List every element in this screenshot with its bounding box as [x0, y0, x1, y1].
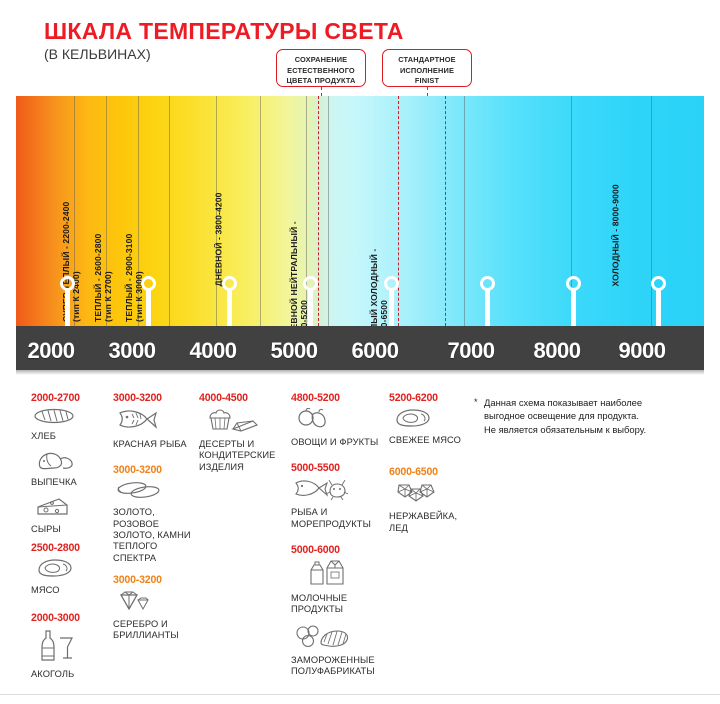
- legend-range: 4000-4500: [199, 392, 287, 404]
- legend-column-3: 4000-4500 ДЕСЕРТЫ И КОНДИТЕРСКИЕ ИЗДЕЛИЯ: [199, 392, 287, 480]
- legend-item: КРАСНАЯ РЫБА: [113, 407, 197, 450]
- callout-natural-color: СОХРАНЕНИЕ ЕСТЕСТВЕННОГО ЦВЕТА ПРОДУКТА: [276, 49, 366, 87]
- legend-group: 5000-6000 МОЛОЧНЫЕ ПРОДУКТЫ ЗАМОРОЖЕННЫЕ…: [291, 544, 383, 677]
- fish-icon: [115, 407, 197, 438]
- marker-ring-icon: [480, 276, 495, 291]
- scale-divider: [328, 96, 329, 326]
- scale-tick-5000: 5000: [254, 338, 334, 364]
- legend-range: 4800-5200: [291, 392, 383, 404]
- scale-label-cold: ХОЛОДНЫЙ - 8000-9000: [611, 184, 621, 286]
- callout-line-3: FINIST: [415, 76, 439, 85]
- marker-ring-icon: [566, 276, 581, 291]
- legend-item: ДЕСЕРТЫ И КОНДИТЕРСКИЕ ИЗДЕЛИЯ: [199, 407, 287, 473]
- marker-stem: [485, 290, 490, 327]
- seafood-icon: [293, 477, 383, 506]
- note-star: *: [474, 396, 478, 409]
- fresh-meat-icon: [391, 407, 467, 434]
- dashed-guide-grey: [445, 96, 446, 326]
- scale-label-warm-2700: ТЕПЛЫЙ - 2600-2800 (тип К 2700): [93, 234, 114, 322]
- legend-item: ЗОЛОТО, РОЗОВОЕ ЗОЛОТО, КАМНИ ТЕПЛОГО СП…: [113, 479, 197, 564]
- gold-rings-icon: [115, 479, 197, 506]
- note-line-2: выгодное освещение для продукта.: [484, 409, 714, 422]
- marker-stem: [308, 290, 313, 327]
- scale-tick-8000: 8000: [517, 338, 597, 364]
- pastry-icon: [33, 449, 111, 476]
- band-shadow: [16, 370, 704, 375]
- legend-item: МОЛОЧНЫЕ ПРОДУКТЫ: [291, 559, 383, 616]
- callout-standard-finist: СТАНДАРТНОЕ ИСПОЛНЕНИЕ FINIST: [382, 49, 472, 87]
- marker-ring-icon: [651, 276, 666, 291]
- temperature-scale: СУПЕР ТЕПЛЫЙ - 2200-2400 (тип К 2400) ТЕ…: [16, 96, 704, 326]
- legend-group: 4800-5200 ОВОЩИ И ФРУКТЫ: [291, 392, 383, 448]
- legend-item: СЕРЕБРО И БРИЛЛИАНТЫ: [113, 589, 197, 642]
- marker-stem: [146, 290, 151, 327]
- callout-line-1: СТАНДАРТНОЕ: [398, 55, 456, 64]
- legend-group: 4000-4500 ДЕСЕРТЫ И КОНДИТЕРСКИЕ ИЗДЕЛИЯ: [199, 392, 287, 473]
- legend-item: МЯСО: [31, 557, 111, 596]
- legend-item-name: СЕРЕБРО И БРИЛЛИАНТЫ: [113, 619, 197, 642]
- page-subtitle: (В КЕЛЬВИНАХ): [44, 46, 151, 62]
- scale-tick-4000: 4000: [173, 338, 253, 364]
- callout-line-2: ИСПОЛНЕНИЕ: [400, 66, 454, 75]
- marker-stem: [65, 290, 70, 327]
- note-line-3: Не является обязательным к выбору.: [484, 423, 714, 436]
- legend-column-4: 4800-5200 ОВОЩИ И ФРУКТЫ 5000-5500 РЫБА …: [291, 392, 383, 684]
- legend-item: СВЕЖЕЕ МЯСО: [389, 407, 467, 446]
- legend-group: 2500-2800 МЯСО: [31, 542, 111, 596]
- legend-column-2: 3000-3200 КРАСНАЯ РЫБА 3000-3200 ЗОЛОТО,…: [113, 392, 197, 649]
- legend-range: 3000-3200: [113, 574, 197, 586]
- marker-stem: [571, 290, 576, 327]
- marker-ring-icon: [384, 276, 399, 291]
- scale-label-line1: ХОЛОДНЫЙ - 8000-9000: [611, 184, 621, 286]
- marker-ring-icon: [222, 276, 237, 291]
- legend-item-name: ЗОЛОТО, РОЗОВОЕ ЗОЛОТО, КАМНИ ТЕПЛОГО СП…: [113, 507, 197, 564]
- scale-label-line1: ДНЕВНОЙ НЕЙТРАЛЬНЫЙ -: [289, 221, 299, 342]
- legend-item-name: ДЕСЕРТЫ И КОНДИТЕРСКИЕ ИЗДЕЛИЯ: [199, 439, 287, 473]
- legend-item: ЗАМОРОЖЕННЫЕ ПОЛУФАБРИКАТЫ: [291, 623, 383, 678]
- legend-range: 5200-6200: [389, 392, 467, 404]
- scale-label-daylight: ДНЕВНОЙ - 3800-4200: [214, 193, 224, 287]
- legend-group: 3000-3200 ЗОЛОТО, РОЗОВОЕ ЗОЛОТО, КАМНИ …: [113, 464, 197, 564]
- scale-divider: [169, 96, 170, 326]
- vegetables-fruits-icon: [293, 407, 383, 436]
- scale-label-line1: ТЕПЛЫЙ - 2900-3100: [124, 234, 134, 322]
- bread-icon: [33, 407, 111, 430]
- legend-group: 3000-3200 КРАСНАЯ РЫБА: [113, 392, 197, 450]
- legend-group: 6000-6500 НЕРЖАВЕЙКА, ЛЕД: [389, 466, 467, 534]
- alcohol-icon: [33, 629, 111, 668]
- diamond-icon: [115, 589, 197, 618]
- cheese-icon: [33, 496, 111, 523]
- legend-item: ХЛЕБ: [31, 407, 111, 442]
- marker-stem: [227, 290, 232, 327]
- legend-item: СЫРЫ: [31, 496, 111, 535]
- color-gradient-bar: [16, 96, 704, 326]
- legend-group: 2000-3000 АКОГОЛЬ: [31, 612, 111, 680]
- footer-divider: [0, 694, 720, 695]
- legend-item-name: ВЫПЕЧКА: [31, 477, 111, 488]
- legend-item-name: СЫРЫ: [31, 524, 111, 535]
- legend-range: 6000-6500: [389, 466, 467, 478]
- marker-ring-icon: [60, 276, 75, 291]
- legend-group: 3000-3200 СЕРЕБРО И БРИЛЛИАНТЫ: [113, 574, 197, 642]
- legend-range: 5000-6000: [291, 544, 383, 556]
- dessert-icon: [201, 407, 287, 438]
- callout-line-2: ЕСТЕСТВЕННОГО: [287, 66, 355, 75]
- legend-item-name: КРАСНАЯ РЫБА: [113, 439, 197, 450]
- scale-tick-3000: 3000: [92, 338, 172, 364]
- marker-ring-icon: [303, 276, 318, 291]
- note-line-1: Данная схема показывает наиболее: [484, 396, 714, 409]
- legend-item-name: ХЛЕБ: [31, 431, 111, 442]
- legend-range: 5000-5500: [291, 462, 383, 474]
- meat-icon: [33, 557, 111, 584]
- marker-stem: [389, 290, 394, 327]
- legend-range: 3000-3200: [113, 392, 197, 404]
- legend-item: ВЫПЕЧКА: [31, 449, 111, 488]
- callout-line-1: СОХРАНЕНИЕ: [295, 55, 348, 64]
- legend-section: 2000-2700 ХЛЕБ ВЫПЕЧКА СЫРЫ 25: [0, 392, 720, 704]
- scale-label-line1: ДНЕВНОЙ - 3800-4200: [214, 193, 224, 287]
- dairy-icon: [303, 559, 383, 592]
- dashed-guide-natural-color: [318, 96, 319, 326]
- legend-range: 2500-2800: [31, 542, 111, 554]
- legend-item-name: ЗАМОРОЖЕННЫЕ ПОЛУФАБРИКАТЫ: [291, 655, 383, 678]
- legend-group: 5200-6200 СВЕЖЕЕ МЯСО: [389, 392, 467, 446]
- scale-tick-6000: 6000: [335, 338, 415, 364]
- legend-item-name: РЫБА И МОРЕПРОДУКТЫ: [291, 507, 383, 530]
- legend-range: 3000-3200: [113, 464, 197, 476]
- dashed-guide-finist: [398, 96, 399, 326]
- page-title: ШКАЛА ТЕМПЕРАТУРЫ СВЕТА: [44, 18, 404, 45]
- header: ШКАЛА ТЕМПЕРАТУРЫ СВЕТА (В КЕЛЬВИНАХ) СО…: [0, 0, 720, 96]
- legend-item-name: МОЛОЧНЫЕ ПРОДУКТЫ: [291, 593, 383, 616]
- marker-ring-icon: [141, 276, 156, 291]
- legend-range: 2000-2700: [31, 392, 111, 404]
- legend-item: РЫБА И МОРЕПРОДУКТЫ: [291, 477, 383, 530]
- legend-item-name: ОВОЩИ И ФРУКТЫ: [291, 437, 383, 448]
- callout-stem-2: [427, 87, 428, 96]
- scale-tick-9000: 9000: [602, 338, 682, 364]
- scale-divider: [464, 96, 465, 326]
- legend-item: ОВОЩИ И ФРУКТЫ: [291, 407, 383, 448]
- callout-line-3: ЦВЕТА ПРОДУКТА: [286, 76, 355, 85]
- scale-label-line1: ТЕПЛЫЙ - 2600-2800: [93, 234, 103, 322]
- legend-item: НЕРЖАВЕЙКА, ЛЕД: [389, 481, 467, 534]
- legend-range: 2000-3000: [31, 612, 111, 624]
- scale-divider: [260, 96, 261, 326]
- marker-stem: [656, 290, 661, 327]
- callout-stem-1: [321, 87, 322, 96]
- legend-item-name: АКОГОЛЬ: [31, 669, 111, 680]
- scale-label-line2: (тип К 2700): [104, 234, 114, 322]
- frozen-food-icon: [293, 623, 383, 654]
- legend-column-5: 5200-6200 СВЕЖЕЕ МЯСО 6000-6500 НЕРЖАВЕЙ…: [389, 392, 467, 541]
- legend-item-name: СВЕЖЕЕ МЯСО: [389, 435, 467, 446]
- scale-tick-7000: 7000: [431, 338, 511, 364]
- scale-tick-2000: 2000: [11, 338, 91, 364]
- legend-item: АКОГОЛЬ: [31, 629, 111, 680]
- legend-group: 2000-2700 ХЛЕБ ВЫПЕЧКА СЫРЫ: [31, 392, 111, 535]
- legend-note: * Данная схема показывает наиболее выгод…: [484, 396, 714, 436]
- legend-item-name: НЕРЖАВЕЙКА, ЛЕД: [389, 511, 467, 534]
- legend-group: 5000-5500 РЫБА И МОРЕПРОДУКТЫ: [291, 462, 383, 530]
- legend-column-1: 2000-2700 ХЛЕБ ВЫПЕЧКА СЫРЫ 25: [31, 392, 111, 688]
- scale-divider: [651, 96, 652, 326]
- legend-item-name: МЯСО: [31, 585, 111, 596]
- stainless-ice-icon: [391, 481, 467, 510]
- scale-label-line2: (тип К 2400): [72, 202, 82, 322]
